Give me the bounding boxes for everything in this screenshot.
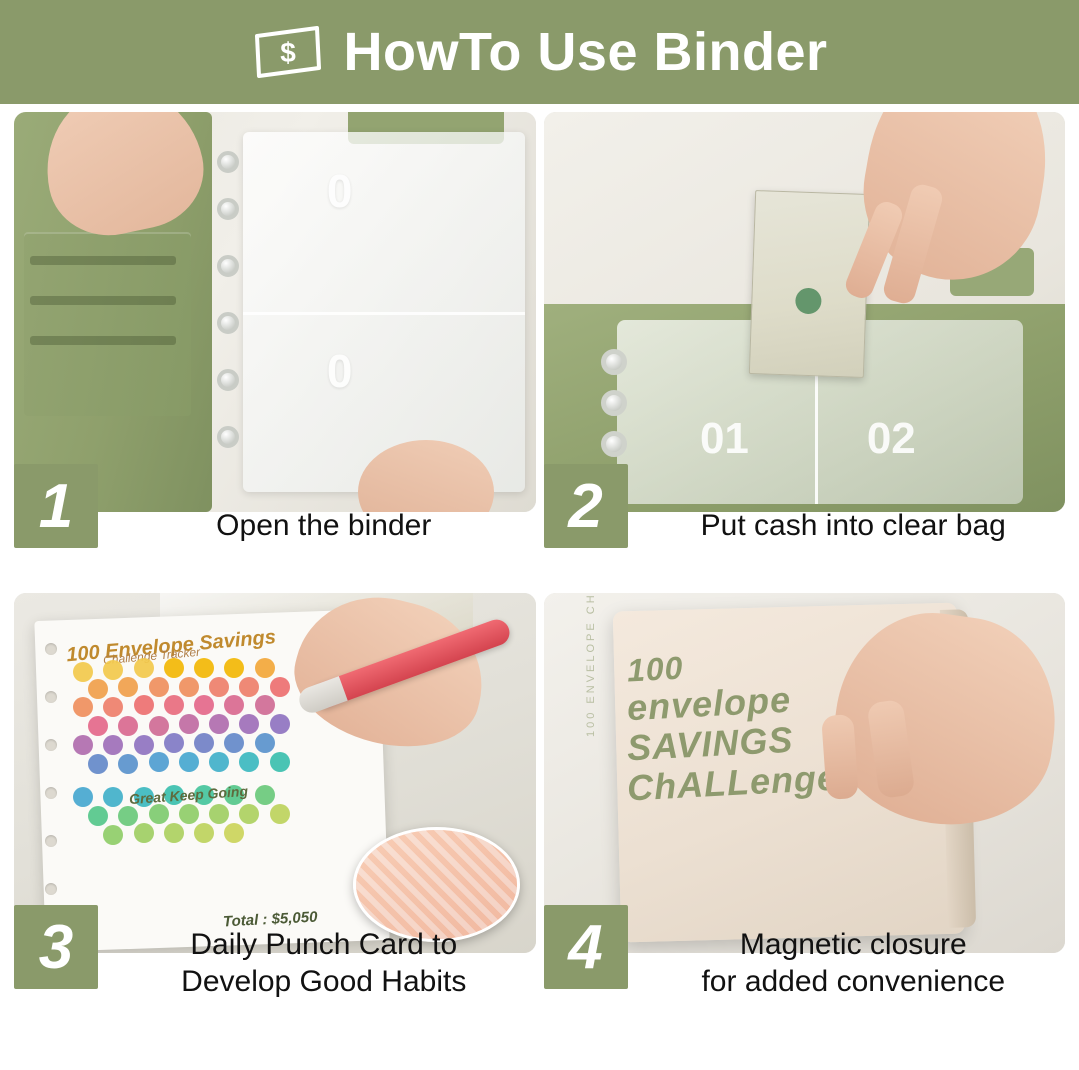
binder-rings — [217, 144, 237, 480]
card-slot — [30, 296, 176, 305]
bill-seal — [795, 287, 822, 314]
step-card-3: 100 Envelope Savings Challenge Tracker — [14, 593, 536, 1066]
step-1-caption: Open the binder — [98, 464, 536, 545]
binder-rings — [601, 344, 627, 480]
card-slot — [30, 256, 176, 265]
sleeve-number-top: 0 — [327, 164, 353, 218]
step-card-4: 100 envelope SAVINGS ChALLenge 100 ENVEL… — [544, 593, 1066, 1066]
step-3-photo: 100 Envelope Savings Challenge Tracker — [14, 593, 536, 953]
step-2-caption-row: 2 Put cash into clear bag — [544, 464, 1066, 552]
step-number-badge-1: 1 — [14, 464, 98, 548]
step-card-2: 01 02 2 Put cash into clear bag — [544, 112, 1066, 585]
step-number-badge-3: 3 — [14, 905, 98, 989]
step-4-caption: Magnetic closure for added convenience — [628, 905, 1066, 1000]
step-1-caption-row: 1 Open the binder — [14, 464, 536, 552]
sleeve-divider — [243, 312, 525, 315]
step-3-caption-line1: Daily Punch Card to — [112, 927, 536, 964]
svg-text:$: $ — [281, 37, 297, 68]
step-1-photo: 0 0 — [14, 112, 536, 512]
step-4-caption-row: 4 Magnetic closure for added convenience — [544, 905, 1066, 1011]
step-number-badge-4: 4 — [544, 905, 628, 989]
step-card-1: 0 0 1 Open the binder — [14, 112, 536, 585]
step-4-caption-line1: Magnetic closure — [642, 927, 1066, 964]
step-4-photo: 100 envelope SAVINGS ChALLenge 100 ENVEL… — [544, 593, 1066, 953]
page-header: $ HowTo Use Binder — [0, 0, 1079, 104]
finger — [822, 714, 860, 800]
cover-text-line-1: 100 — [626, 649, 684, 689]
sleeve-label-01: 01 — [700, 414, 749, 464]
sheet-punch-holes — [45, 643, 57, 909]
step-3-caption-line2: Develop Good Habits — [112, 964, 536, 1001]
sleeve-number-bottom: 0 — [327, 344, 353, 398]
step-3-caption: Daily Punch Card to Develop Good Habits — [98, 905, 536, 1000]
step-3-caption-row: 3 Daily Punch Card to Develop Good Habit… — [14, 905, 536, 1011]
step-2-caption-line1: Put cash into clear bag — [701, 509, 1006, 542]
sleeve-label-02: 02 — [867, 414, 916, 464]
page-title: HowTo Use Binder — [343, 21, 827, 83]
steps-grid: 0 0 1 Open the binder — [0, 104, 1079, 1070]
step-1-caption-line1: Open the binder — [216, 509, 431, 542]
step-2-photo: 01 02 — [544, 112, 1066, 512]
step-number-badge-2: 2 — [544, 464, 628, 548]
dollar-bill-icon: $ — [251, 22, 325, 82]
cover-side-text: 100 ENVELOPE CHALLENGE — [585, 593, 597, 737]
step-2-caption: Put cash into clear bag — [628, 464, 1066, 545]
step-4-caption-line2: for added convenience — [642, 964, 1066, 1001]
card-slot — [30, 336, 176, 345]
